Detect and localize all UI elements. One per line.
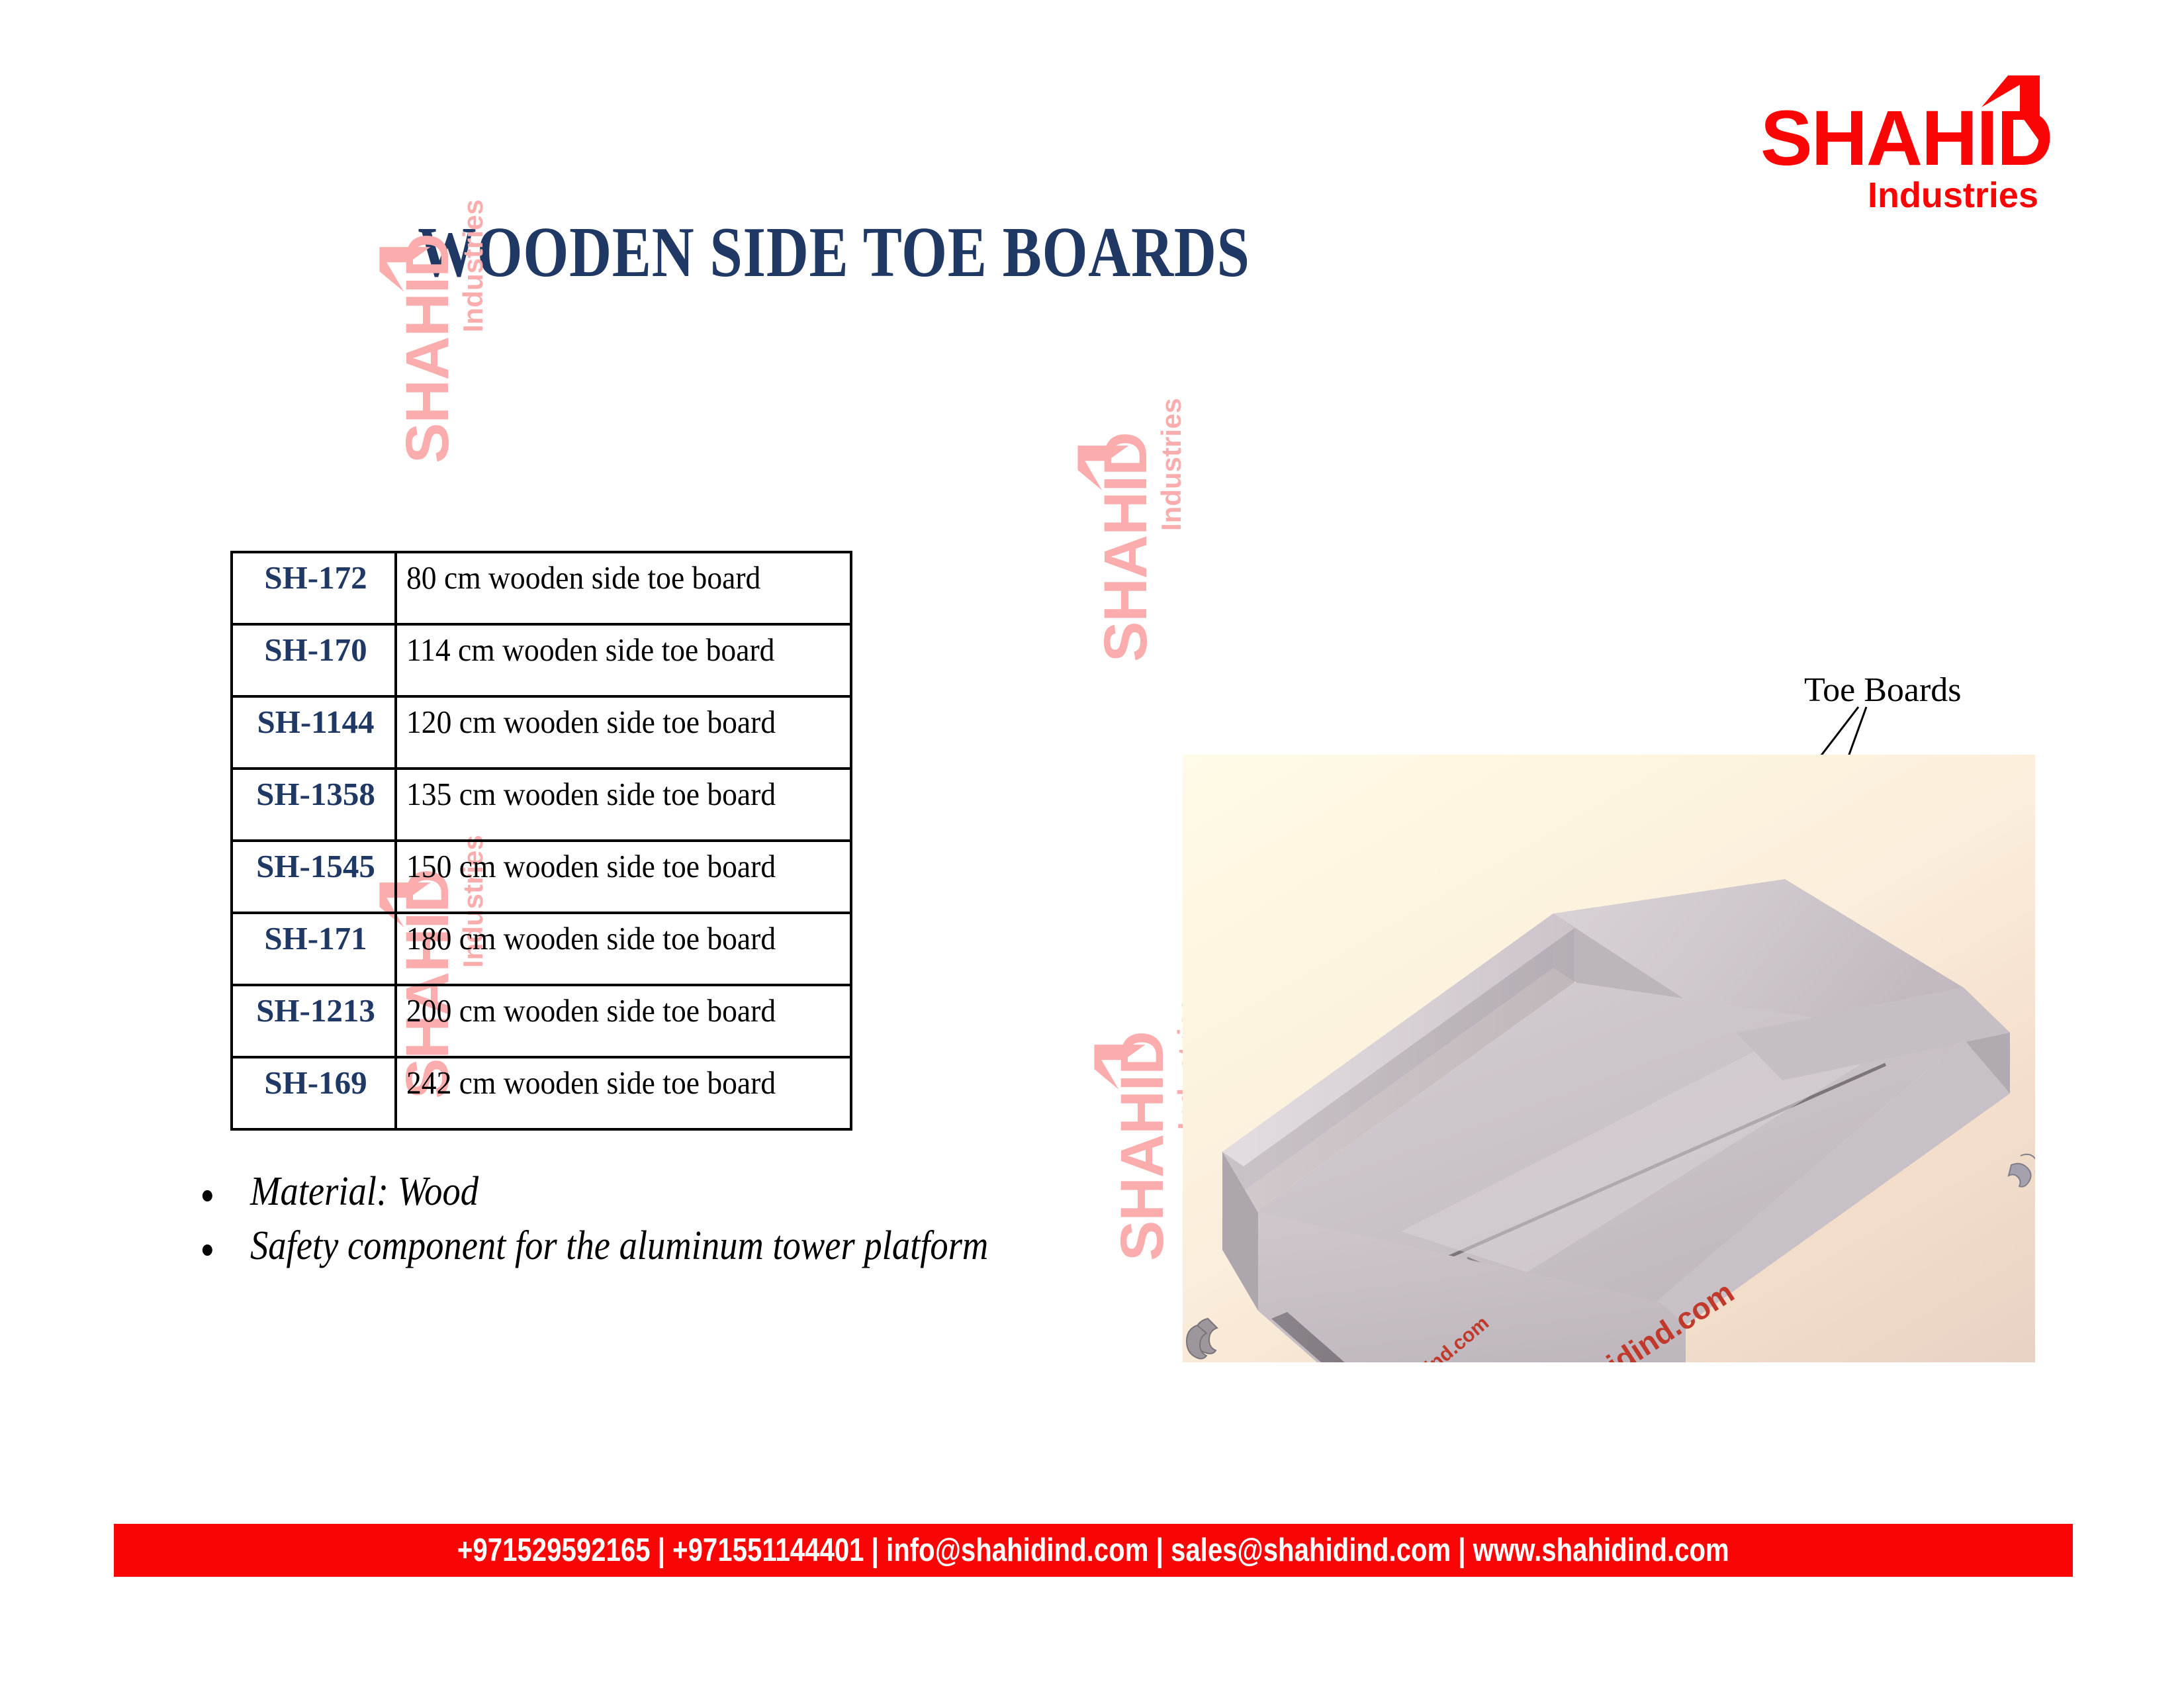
table-row: SH-1144 120 cm wooden side toe board xyxy=(232,696,851,769)
feature-list: Material: Wood Safety component for the … xyxy=(192,1165,1185,1274)
table-row: SH-169 242 cm wooden side toe board xyxy=(232,1057,851,1129)
product-figure: Shahidind.com Shahidind.com xyxy=(1183,755,2035,1362)
product-description: 135 cm wooden side toe board xyxy=(396,769,851,841)
table-row: SH-1545 150 cm wooden side toe board xyxy=(232,841,851,913)
table-row: SH-171 180 cm wooden side toe board xyxy=(232,913,851,985)
list-item: Safety component for the aluminum tower … xyxy=(192,1219,1066,1274)
brand-logo: SHAHID Industries xyxy=(1760,99,2038,232)
product-description: 242 cm wooden side toe board xyxy=(396,1057,851,1129)
page-title: WOODEN SIDE TOE BOARDS xyxy=(150,212,1518,294)
watermark-subtitle: Industries xyxy=(1158,398,1185,531)
footer-contact-text: +971529592165 | +971551144401 | info@sha… xyxy=(457,1532,1729,1569)
footer-contact-bar: +971529592165 | +971551144401 | info@sha… xyxy=(114,1524,2073,1577)
product-code: SH-172 xyxy=(232,552,396,624)
product-code: SH-170 xyxy=(232,624,396,696)
brand-wordmark: SHAHID xyxy=(1760,99,2052,177)
product-description: 114 cm wooden side toe board xyxy=(396,624,851,696)
product-code: SH-169 xyxy=(232,1057,396,1129)
watermark-wordmark: SHAHID xyxy=(1092,432,1160,662)
watermark-2: SHAHID Industries xyxy=(1095,432,1156,662)
table-row: SH-170 114 cm wooden side toe board xyxy=(232,624,851,696)
arrow-up-right-icon xyxy=(1075,444,1131,492)
product-code: SH-1545 xyxy=(232,841,396,913)
product-code: SH-1358 xyxy=(232,769,396,841)
product-code: SH-1144 xyxy=(232,696,396,769)
product-code: SH-1213 xyxy=(232,985,396,1057)
product-description: 180 cm wooden side toe board xyxy=(396,913,851,985)
product-spec-sheet: SHAHID Industries WOODEN SIDE TOE BOARDS… xyxy=(0,0,2184,1688)
product-description: 150 cm wooden side toe board xyxy=(396,841,851,913)
product-description: 200 cm wooden side toe board xyxy=(396,985,851,1057)
platform-toe-board-render: Shahidind.com Shahidind.com xyxy=(1183,755,2035,1362)
table-row: SH-172 80 cm wooden side toe board xyxy=(232,552,851,624)
product-description: 80 cm wooden side toe board xyxy=(396,552,851,624)
table-row: SH-1213 200 cm wooden side toe board xyxy=(232,985,851,1057)
product-description: 120 cm wooden side toe board xyxy=(396,696,851,769)
table-row: SH-1358 135 cm wooden side toe board xyxy=(232,769,851,841)
brand-subtitle: Industries xyxy=(1868,177,2038,213)
list-item: Material: Wood xyxy=(192,1165,1066,1219)
callout-label-toe-boards: Toe Boards xyxy=(1804,671,1962,710)
product-code: SH-171 xyxy=(232,913,396,985)
arrow-up-right-icon xyxy=(1092,1043,1148,1092)
spec-table: SH-172 80 cm wooden side toe board SH-17… xyxy=(230,551,852,1131)
